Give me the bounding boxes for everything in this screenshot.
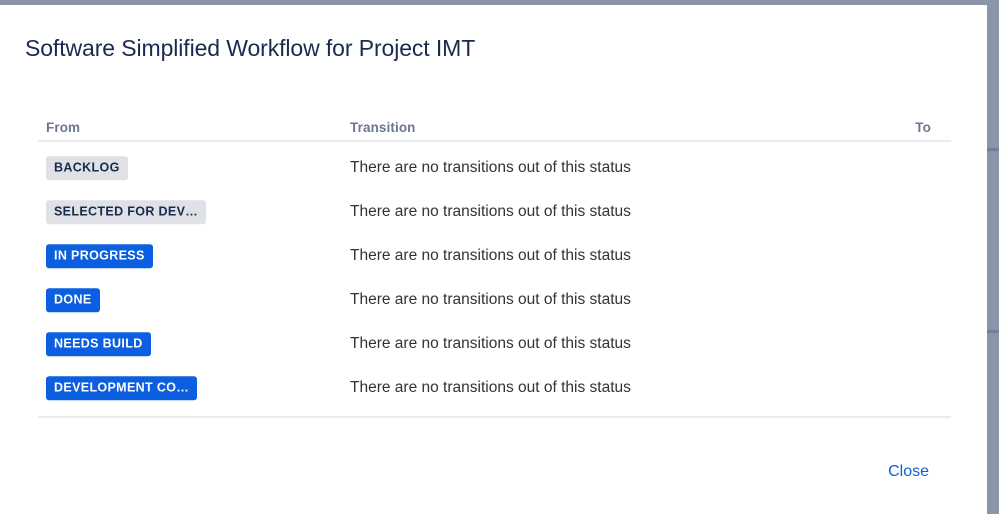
- cell-transition: There are no transitions out of this sta…: [350, 159, 631, 177]
- screen: Software Simplified Workflow for Project…: [0, 0, 999, 514]
- cell-from: DONE: [46, 288, 100, 312]
- table-row: SELECTED FOR DEV… There are no transitio…: [38, 190, 951, 234]
- table-row: DONE There are no transitions out of thi…: [38, 278, 951, 322]
- cell-from: SELECTED FOR DEV…: [46, 200, 206, 224]
- status-badge: DEVELOPMENT CO…: [46, 376, 197, 400]
- scrollbar-notch: [987, 148, 999, 151]
- cell-from: IN PROGRESS: [46, 244, 153, 268]
- table-row: NEEDS BUILD There are no transitions out…: [38, 322, 951, 366]
- cell-transition: There are no transitions out of this sta…: [350, 335, 631, 353]
- page-title: Software Simplified Workflow for Project…: [25, 35, 475, 62]
- status-badge: DONE: [46, 288, 100, 312]
- table-body: BACKLOG There are no transitions out of …: [38, 142, 951, 418]
- table-row: IN PROGRESS There are no transitions out…: [38, 234, 951, 278]
- cell-transition: There are no transitions out of this sta…: [350, 379, 631, 397]
- dialog-footer: Close: [888, 463, 929, 481]
- cell-from: NEEDS BUILD: [46, 332, 151, 356]
- cell-transition: There are no transitions out of this sta…: [350, 291, 631, 309]
- cell-from: BACKLOG: [46, 156, 128, 180]
- page-scrollbar[interactable]: [987, 0, 999, 514]
- column-header-to: To: [915, 120, 931, 135]
- workflow-dialog: Software Simplified Workflow for Project…: [0, 5, 987, 514]
- table-header-row: From Transition To: [38, 110, 951, 142]
- workflow-transitions-table: From Transition To BACKLOG There are no …: [38, 110, 951, 418]
- status-badge: IN PROGRESS: [46, 244, 153, 268]
- table-row: BACKLOG There are no transitions out of …: [38, 146, 951, 190]
- column-header-transition: Transition: [350, 120, 416, 135]
- close-button[interactable]: Close: [888, 463, 929, 480]
- column-header-from: From: [46, 120, 80, 135]
- scrollbar-notch: [987, 330, 999, 333]
- cell-transition: There are no transitions out of this sta…: [350, 247, 631, 265]
- status-badge: SELECTED FOR DEV…: [46, 200, 206, 224]
- status-badge: BACKLOG: [46, 156, 128, 180]
- cell-transition: There are no transitions out of this sta…: [350, 203, 631, 221]
- table-row: DEVELOPMENT CO… There are no transitions…: [38, 366, 951, 410]
- cell-from: DEVELOPMENT CO…: [46, 376, 197, 400]
- status-badge: NEEDS BUILD: [46, 332, 151, 356]
